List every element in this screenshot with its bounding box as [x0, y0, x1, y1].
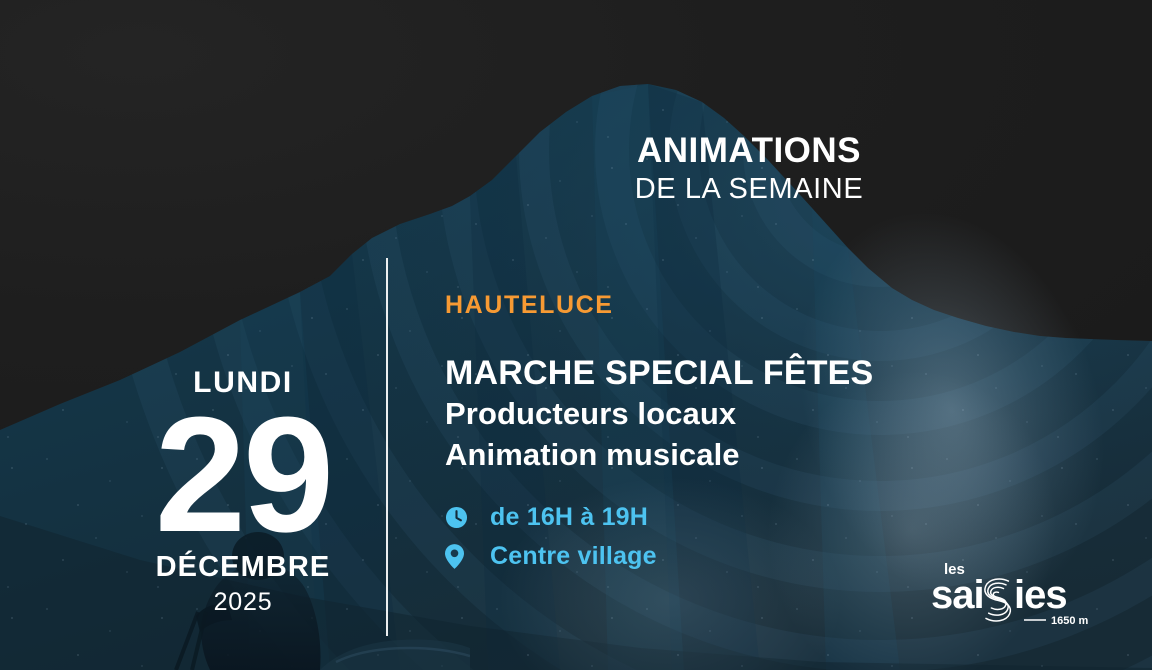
date-block: LUNDI 29 DÉCEMBRE 2025: [108, 368, 378, 615]
les-saisies-logo: les sai ies 1650 m: [930, 556, 1090, 628]
poster-header: ANIMATIONS DE LA SEMAINE: [386, 133, 1112, 204]
event-time-row: de 16H à 19H: [445, 498, 1085, 537]
event-place-text: Centre village: [490, 542, 657, 571]
map-pin-icon: [445, 544, 471, 569]
event-location: HAUTELUCE: [445, 292, 1085, 320]
event-title-line3: Animation musicale: [445, 435, 1085, 476]
vertical-divider: [386, 258, 388, 636]
date-day-number: 29: [108, 400, 378, 551]
event-title-line2: Producteurs locaux: [445, 394, 1085, 435]
date-month: DÉCEMBRE: [108, 553, 378, 582]
header-title: ANIMATIONS: [386, 133, 1112, 168]
logo-altitude-text: 1650 m: [1051, 615, 1089, 627]
clock-icon: [445, 506, 471, 529]
header-subtitle: DE LA SEMAINE: [386, 175, 1112, 204]
event-time-text: de 16H à 19H: [490, 503, 648, 532]
logo-s-monogram: [985, 579, 1011, 621]
logo-sai-text: sai: [931, 573, 984, 617]
event-title-group: MARCHE SPECIAL FÊTES Producteurs locaux …: [445, 353, 1085, 476]
date-year: 2025: [108, 590, 378, 615]
poster-canvas: ANIMATIONS DE LA SEMAINE LUNDI 29 DÉCEMB…: [0, 0, 1152, 670]
logo-ies-text: ies: [1014, 573, 1067, 617]
event-title-main: MARCHE SPECIAL FÊTES: [445, 353, 1085, 394]
event-block: HAUTELUCE MARCHE SPECIAL FÊTES Producteu…: [445, 292, 1085, 576]
